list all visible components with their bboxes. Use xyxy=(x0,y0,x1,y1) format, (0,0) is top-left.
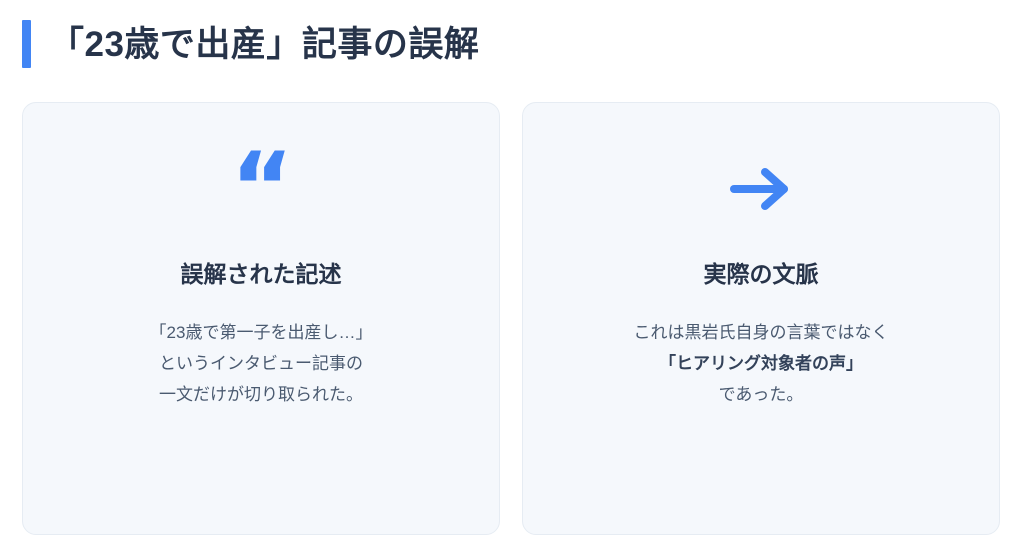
card-body-line: というインタビュー記事の xyxy=(150,348,373,379)
card-body-line: これは黒岩氏自身の言葉ではなく xyxy=(634,317,889,348)
card-body-line: であった。 xyxy=(634,379,889,410)
slide-root: 「23歳で出産」記事の誤解 “ 誤解された記述 「23歳で第一子を出産し…」 と… xyxy=(0,0,1018,539)
card-misunderstood-statement: “ 誤解された記述 「23歳で第一子を出産し…」 というインタビュー記事の 一文… xyxy=(22,102,500,535)
card-body-line-emphasis: 「ヒアリング対象者の声」 xyxy=(634,348,889,379)
page-heading: 「23歳で出産」記事の誤解 xyxy=(0,0,1018,72)
card-body-line: 一文だけが切り取られた。 xyxy=(150,379,373,410)
card-body: 「23歳で第一子を出産し…」 というインタビュー記事の 一文だけが切り取られた。 xyxy=(150,317,373,411)
quote-icon: “ xyxy=(230,155,291,223)
card-title: 実際の文脈 xyxy=(704,261,819,289)
card-body-line: 「23歳で第一子を出産し…」 xyxy=(150,317,373,348)
quote-glyph: “ xyxy=(230,159,291,219)
page-title: 「23歳で出産」記事の誤解 xyxy=(49,27,479,62)
card-title: 誤解された記述 xyxy=(181,261,342,289)
accent-bar-icon xyxy=(22,20,31,68)
arrow-right-svg xyxy=(728,166,794,212)
card-actual-context: 実際の文脈 これは黒岩氏自身の言葉ではなく 「ヒアリング対象者の声」 であった。 xyxy=(522,102,1000,535)
card-body: これは黒岩氏自身の言葉ではなく 「ヒアリング対象者の声」 であった。 xyxy=(634,317,889,411)
comparison-cards: “ 誤解された記述 「23歳で第一子を出産し…」 というインタビュー記事の 一文… xyxy=(0,72,1018,535)
arrow-right-icon xyxy=(728,155,794,223)
